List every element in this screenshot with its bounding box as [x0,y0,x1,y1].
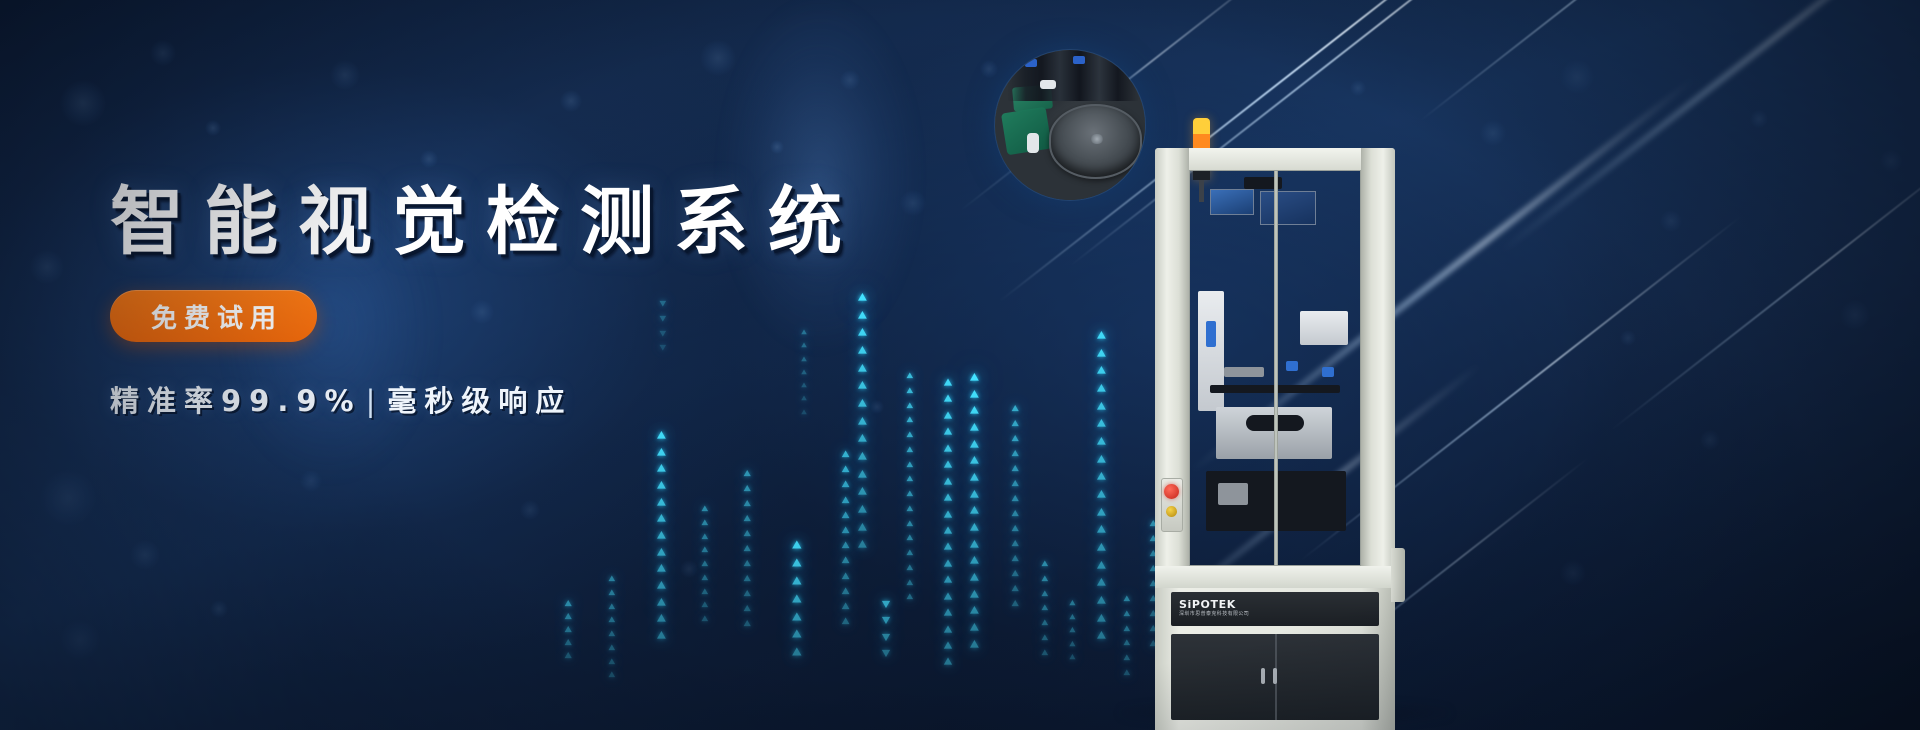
arrow-up-icon: ⯅ [742,500,752,510]
interior-blue-part-3 [1322,367,1334,377]
bokeh-dot [1620,330,1636,346]
arrow-up-icon: ⯅ [1095,330,1108,342]
interior-lower-module [1218,483,1248,505]
arrow-particle-column: ⯅⯅⯅⯅⯅⯅ [1122,595,1132,684]
arrow-up-icon: ⯅ [942,444,954,456]
arrow-up-icon: ⯅ [1095,454,1108,466]
arrow-up-icon: ⯅ [942,542,954,554]
arrow-up-icon: ⯅ [1010,465,1020,475]
arrow-up-icon: ⯅ [790,540,804,553]
interior-blue-part-2 [1286,361,1298,371]
bokeh-dot [1480,120,1506,146]
inset-blue-fitting-2 [1073,56,1085,64]
arrow-up-icon: ⯅ [1122,595,1132,604]
hero-copy-block: 智能视觉检测系统 免费试用 精准率99.9%|毫秒级响应 [110,185,1010,420]
arrow-up-icon: ⯅ [790,647,804,660]
arrow-up-icon: ⯅ [840,526,851,537]
arrow-up-icon: ⯅ [1010,585,1020,595]
arrow-up-icon: ⯅ [840,587,851,598]
bokeh-dot [1840,300,1870,330]
arrow-up-icon: ⯅ [1010,495,1020,505]
machine-top-panel [1155,148,1395,170]
arrow-up-icon: ⯅ [1122,669,1132,678]
arrow-up-icon: ⯅ [1010,600,1020,610]
arrow-up-icon: ⯅ [1040,590,1050,599]
machine-glass-window [1189,170,1361,566]
arrow-up-icon: ⯅ [1095,613,1108,625]
bokeh-dot [30,250,64,284]
arrow-up-icon: ⯅ [905,461,915,470]
arrow-up-icon: ⯅ [1040,619,1050,628]
arrow-up-icon: ⯅ [856,451,869,463]
arrow-up-icon: ⯅ [742,515,752,525]
interior-white-panel [1300,311,1348,345]
arrow-up-icon: ⯅ [1095,595,1108,607]
arrow-up-icon: ⯅ [1095,436,1108,448]
arrow-particle-column: ⯅⯅⯅⯅⯅⯅⯅⯅ [607,575,617,685]
arrow-up-icon: ⯅ [942,625,954,637]
arrow-up-icon: ⯅ [942,592,954,604]
arrow-up-icon: ⯅ [790,594,804,607]
arrow-up-icon: ⯅ [1095,348,1108,360]
bokeh-dot [300,470,322,492]
arrow-up-icon: ⯅ [655,597,668,609]
bokeh-dot [1350,80,1366,96]
arrow-particle-column: ⯅⯅⯅⯅⯅⯅⯅⯅⯅ [700,505,710,629]
arrow-up-icon: ⯅ [942,608,954,620]
arrow-up-icon: ⯅ [655,530,668,542]
bokeh-dot [1560,60,1594,94]
arrow-up-icon: ⯅ [1040,634,1050,643]
arrow-up-icon: ⯅ [607,603,617,612]
bokeh-dot [1660,210,1682,232]
arrow-up-icon: ⯅ [942,460,954,472]
arrow-up-icon: ⯅ [856,469,869,481]
bokeh-dot [420,150,438,168]
arrow-up-icon: ⯅ [905,579,915,588]
arrow-up-icon: ⯅ [1095,630,1108,642]
bokeh-dot [700,40,736,76]
arrow-up-icon: ⯆ [880,600,892,612]
arrow-up-icon: ⯅ [905,593,915,602]
arrow-up-icon: ⯅ [1010,570,1020,580]
arrow-up-icon: ⯅ [942,559,954,571]
arrow-up-icon: ⯅ [968,439,981,451]
arrow-up-icon: ⯅ [840,617,851,628]
arrow-up-icon: ⯅ [840,602,851,613]
selector-knob[interactable] [1166,506,1177,517]
arrow-up-icon: ⯅ [790,612,804,625]
arrow-up-icon: ⯅ [1095,524,1108,536]
arrow-up-icon: ⯅ [742,530,752,540]
arrow-up-icon: ⯅ [1010,555,1020,565]
inset-blue-fitting-1 [1025,59,1037,67]
arrow-up-icon: ⯅ [1010,540,1020,550]
arrow-up-icon: ⯅ [840,556,851,567]
emergency-stop-button[interactable] [1164,484,1179,499]
arrow-up-icon: ⯅ [742,590,752,600]
arrow-up-icon: ⯅ [1095,471,1108,483]
arrow-up-icon: ⯅ [700,546,710,555]
arrow-up-icon: ⯅ [968,422,981,434]
bokeh-dot [210,600,228,618]
arrow-up-icon: ⯅ [1010,405,1020,415]
subtitle-accuracy: 精准率99.9% [110,384,362,418]
arrow-up-icon: ⯅ [968,505,981,517]
arrow-up-icon: ⯅ [1010,450,1020,460]
arrow-particle-column: ⯅⯅⯅⯅⯅⯅⯅⯅⯅⯅⯅⯅⯅⯅⯅⯅⯅⯅ [942,378,954,674]
arrow-up-icon: ⯅ [1095,577,1108,589]
arrow-up-icon: ⯅ [655,613,668,625]
arrow-up-icon: ⯅ [655,630,668,642]
bokeh-dot [1700,430,1720,450]
machine-side-box [1391,548,1405,602]
arrow-up-icon: ⯅ [1010,510,1020,520]
arrow-up-icon: ⯅ [700,533,710,542]
arrow-up-icon: ⯅ [1122,654,1132,663]
arrow-up-icon: ⯅ [968,489,981,501]
arrow-up-icon: ⯅ [742,605,752,615]
arrow-up-icon: ⯅ [607,630,617,639]
arrow-particle-column: ⯅⯅⯅⯅⯅⯅⯅⯅⯅⯅⯅⯅⯅⯅⯅⯅⯅⯅ [1095,330,1108,648]
tower-light-orange [1193,134,1210,150]
arrow-up-icon: ⯅ [1010,525,1020,535]
bokeh-dot [205,120,221,136]
arrow-up-icon: ⯅ [968,522,981,534]
arrow-up-icon: ⯅ [905,520,915,529]
arrow-up-icon: ⯅ [905,505,915,514]
subtitle-response: 毫秒级响应 [387,384,572,418]
arrow-up-icon: ⯅ [790,629,804,642]
bokeh-dot [60,80,106,126]
arrow-particle-column: ⯅⯅⯅⯅⯅⯅⯅ [1040,560,1050,663]
arrow-up-icon: ⯅ [1068,600,1077,609]
arrow-up-icon: ⯅ [655,513,668,525]
arrow-up-icon: ⯅ [856,539,869,551]
arrow-up-icon: ⯅ [1095,401,1108,413]
arrow-up-icon: ⯅ [655,547,668,559]
arrow-up-icon: ⯅ [1040,649,1050,658]
arrow-up-icon: ⯅ [607,616,617,625]
arrow-up-icon: ⯅ [856,504,869,516]
arrow-up-icon: ⯅ [700,560,710,569]
arrow-up-icon: ⯅ [840,572,851,583]
arrow-up-icon: ⯅ [905,431,915,440]
arrow-up-icon: ⯅ [968,622,981,634]
arrow-up-icon: ⯅ [1095,418,1108,430]
arrow-up-icon: ⯅ [942,526,954,538]
arrow-up-icon: ⯆ [880,633,892,645]
bokeh-dot [520,500,540,520]
arrow-particle-column: ⯅⯅⯅⯅⯅ [1068,600,1077,668]
arrow-up-icon: ⯅ [1010,420,1020,430]
interior-white-column [1198,291,1224,411]
arrow-up-icon: ⯅ [1122,625,1132,634]
arrow-up-icon: ⯅ [742,470,752,480]
arrow-up-icon: ⯅ [607,671,617,680]
bokeh-dot [60,620,100,660]
arrow-up-icon: ⯅ [968,639,981,651]
arrow-up-icon: ⯅ [563,639,573,649]
door-handle-left[interactable] [1261,668,1265,684]
arrow-up-icon: ⯅ [1095,507,1108,519]
bokeh-dot [40,470,96,526]
arrow-up-icon: ⯅ [700,601,710,610]
arrow-up-icon: ⯅ [1040,575,1050,584]
light-streak [1609,135,1920,432]
machine-frame-right [1361,148,1395,566]
arrow-up-icon: ⯅ [1040,560,1050,569]
arrow-up-icon: ⯅ [840,480,851,491]
arrow-up-icon: ⯅ [905,564,915,573]
arrow-up-icon: ⯅ [1068,627,1077,636]
arrow-particle-column: ⯅⯅⯅⯅⯅⯅⯅⯅⯅⯅⯅⯅⯅⯅ [1010,405,1020,615]
arrow-up-icon: ⯅ [1095,542,1108,554]
tower-light-amber [1193,118,1210,134]
arrow-up-icon: ⯅ [1122,639,1132,648]
arrow-up-icon: ⯅ [700,519,710,528]
arrow-up-icon: ⯅ [840,465,851,476]
page-title: 智能视觉检测系统 [110,185,1010,260]
arrow-up-icon: ⯅ [563,626,573,636]
arrow-up-icon: ⯅ [968,605,981,617]
arrow-up-icon: ⯅ [905,446,915,455]
arrow-up-icon: ⯅ [968,472,981,484]
arrow-up-icon: ⯅ [655,580,668,592]
arrow-up-icon: ⯅ [700,588,710,597]
arrow-particle-column: ⯅⯅⯅⯅⯅⯅⯅ [790,540,804,665]
arrow-up-icon: ⯅ [700,505,710,514]
product-machine: SiPOTEK 深圳市思普泰克科技有限公司 [1155,118,1395,718]
door-handle-right[interactable] [1273,668,1277,684]
arrow-up-icon: ⯅ [563,613,573,623]
arrow-up-icon: ⯅ [563,652,573,662]
arrow-up-icon: ⯅ [655,497,668,509]
bokeh-dot [1750,110,1768,128]
arrow-up-icon: ⯅ [655,447,668,459]
arrow-up-icon: ⯅ [905,475,915,484]
arrow-up-icon: ⯅ [840,450,851,461]
arrow-up-icon: ⯅ [790,558,804,571]
bokeh-dot [150,40,176,66]
arrow-particle-column: ⯅⯅⯅⯅⯅⯅⯅⯅⯅⯅⯅ [742,470,752,635]
arrow-particle-column: ⯅⯅⯅⯅⯅⯅⯅⯅⯅⯅⯅⯅⯅ [655,430,668,647]
arrow-up-icon: ⯅ [563,600,573,610]
interior-monitor [1260,191,1316,225]
arrow-up-icon: ⯅ [905,534,915,543]
arrow-up-icon: ⯅ [942,477,954,489]
arrow-up-icon: ⯅ [700,574,710,583]
bokeh-dot [840,70,860,90]
arrow-up-icon: ⯅ [840,541,851,552]
arrow-up-icon: ⯅ [1095,560,1108,572]
arrow-up-icon: ⯅ [942,657,954,669]
arrow-up-icon: ⯅ [1095,383,1108,395]
arrow-up-icon: ⯅ [905,490,915,499]
inset-white-fitting-1 [1040,80,1056,89]
arrow-up-icon: ⯅ [607,575,617,584]
arrow-up-icon: ⯅ [655,563,668,575]
arrow-up-icon: ⯅ [742,575,752,585]
interior-blue-part-1 [1206,321,1216,347]
arrow-up-icon: ⯅ [942,493,954,505]
arrow-up-icon: ⯅ [968,455,981,467]
arrow-up-icon: ⯅ [1010,480,1020,490]
arrow-up-icon: ⯅ [856,433,869,445]
arrow-up-icon: ⯅ [607,644,617,653]
interior-hmi-screen [1210,189,1254,215]
subtitle-divider: | [362,384,388,418]
arrow-particle-column: ⯅⯅⯅⯅⯅ [563,600,573,665]
machine-brand-logo: SiPOTEK [1179,599,1236,610]
arrow-up-icon: ⯅ [840,496,851,507]
light-streak [1498,0,1920,254]
inset-white-fitting-2 [1027,133,1039,153]
arrow-particle-column: ⯆⯆⯆⯆ [880,600,892,666]
bokeh-dot [130,540,160,570]
arrow-up-icon: ⯅ [742,485,752,495]
hero-banner: ⯅⯅⯅⯅⯅⯅⯅⯅⯅⯅⯅⯅⯅⯅⯅⯅⯅⯅⯅⯅⯅⯅⯅⯅⯅⯅⯆⯆⯆⯆⯅⯅⯅⯅⯅⯅⯅⯅⯅⯅… [0,0,1920,730]
arrow-up-icon: ⯅ [1068,641,1077,650]
arrow-up-icon: ⯅ [742,545,752,555]
glass-mullion [1274,171,1278,565]
arrow-up-icon: ⯅ [742,620,752,630]
arrow-up-icon: ⯅ [942,510,954,522]
arrow-up-icon: ⯅ [1010,435,1020,445]
interior-gray-rail [1224,367,1264,377]
arrow-up-icon: ⯅ [968,572,981,584]
arrow-up-icon: ⯅ [655,480,668,492]
arrow-up-icon: ⯅ [1068,654,1077,663]
arrow-up-icon: ⯅ [607,658,617,667]
arrow-up-icon: ⯅ [856,522,869,534]
hero-subtitle: 精准率99.9%|毫秒级响应 [110,378,1010,420]
arrow-up-icon: ⯅ [655,430,668,442]
arrow-up-icon: ⯅ [1040,604,1050,613]
arrow-up-icon: ⯅ [1095,489,1108,501]
bokeh-dot [770,140,784,154]
inset-product-photo [995,50,1145,200]
arrow-up-icon: ⯅ [856,486,869,498]
arrow-up-icon: ⯅ [968,539,981,551]
arrow-up-icon: ⯆ [880,649,892,661]
bokeh-dot [680,560,698,578]
arrow-up-icon: ⯅ [968,555,981,567]
arrow-up-icon: ⯅ [905,549,915,558]
arrow-up-icon: ⯅ [840,511,851,522]
inset-rotary-bowl [1049,104,1142,179]
machine-mid-band [1155,566,1395,588]
bokeh-dot [1880,150,1902,172]
arrow-particle-column: ⯅⯅⯅⯅⯅⯅⯅⯅⯅⯅⯅⯅ [840,450,851,632]
bokeh-dot [560,90,582,112]
machine-interior [1190,171,1360,565]
arrow-up-icon: ⯅ [942,427,954,439]
machine-brand-subtext: 深圳市思普泰克科技有限公司 [1179,612,1249,617]
arrow-up-icon: ⯅ [1095,365,1108,377]
machine-cabinet: SiPOTEK 深圳市思普泰克科技有限公司 [1155,148,1395,708]
arrow-up-icon: ⯅ [607,589,617,598]
arrow-up-icon: ⯅ [968,589,981,601]
arrow-up-icon: ⯅ [1068,614,1077,623]
bokeh-dot [330,60,360,90]
light-streak [1419,0,1830,122]
bokeh-dot [1560,560,1586,586]
arrow-up-icon: ⯅ [790,576,804,589]
arrow-up-icon: ⯅ [700,615,710,624]
arrow-up-icon: ⯅ [942,641,954,653]
arrow-up-icon: ⯅ [655,463,668,475]
arrow-up-icon: ⯅ [1122,610,1132,619]
arrow-up-icon: ⯅ [942,575,954,587]
arrow-up-icon: ⯅ [742,560,752,570]
arrow-up-icon: ⯆ [880,616,892,628]
free-trial-button[interactable]: 免费试用 [110,290,317,342]
